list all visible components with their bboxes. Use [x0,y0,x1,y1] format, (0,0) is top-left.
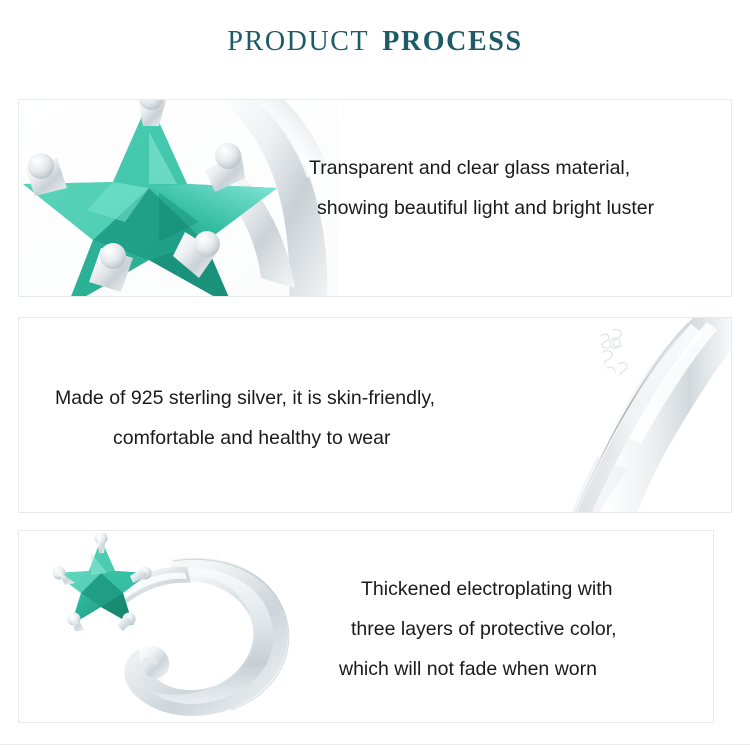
feature-text-line: comfortable and healthy to wear [113,418,435,458]
star-gemstone-macro-svg [18,99,339,297]
feature-text-line: showing beautiful light and bright luste… [317,188,654,228]
page-title-word-product: PRODUCT [227,26,369,57]
feature-text-electroplating: Thickened electroplating with three laye… [339,569,617,689]
bottom-divider [0,744,750,745]
feature-text-line: Transparent and clear glass material, [309,148,654,188]
feature-card-glass-material: Transparent and clear glass material, sh… [18,99,732,297]
star-gemstone-macro-photo [18,99,339,297]
feature-text-line: Thickened electroplating with [361,569,617,609]
feature-text-line: which will not fade when worn [339,649,617,689]
feature-text-line: Made of 925 sterling silver, it is skin-… [55,378,435,418]
feature-text-sterling-silver: Made of 925 sterling silver, it is skin-… [55,378,435,458]
silver-band-macro-svg [541,318,731,513]
page-title-word-process: PROCESS [382,26,522,57]
page-title: PRODUCTPROCESS [0,26,750,58]
feature-card-sterling-silver: Made of 925 sterling silver, it is skin-… [18,317,732,513]
feature-card-electroplating: Thickened electroplating with three laye… [18,530,714,723]
feature-text-line: three layers of protective color, [351,609,617,649]
feature-text-glass-material: Transparent and clear glass material, sh… [309,148,654,228]
silver-band-macro-photo [541,318,731,513]
open-star-ring-photo [53,533,323,723]
open-star-ring-svg [53,533,323,723]
